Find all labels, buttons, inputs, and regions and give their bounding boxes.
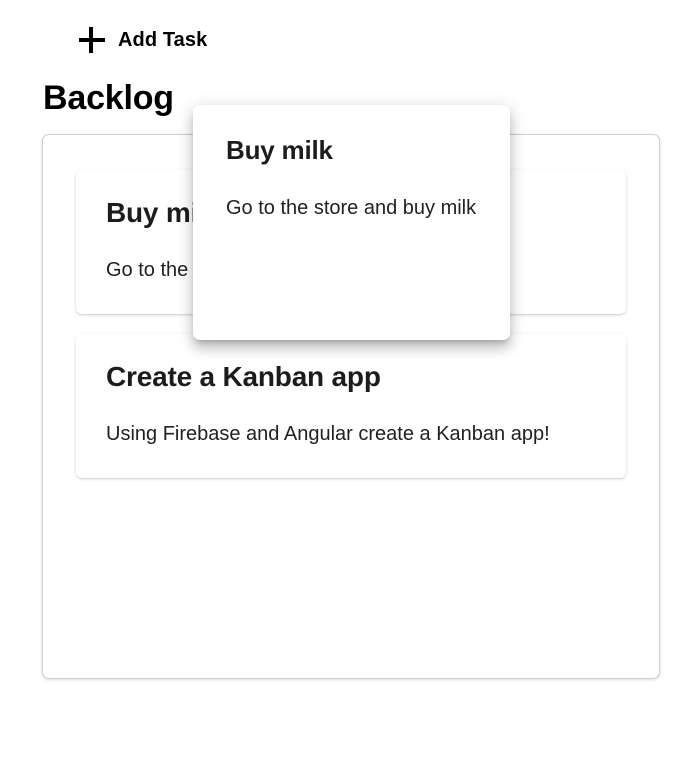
task-card-title: Create a Kanban app: [106, 360, 596, 394]
add-task-label: Add Task: [118, 30, 207, 50]
drag-preview-description: Go to the store and buy milk: [226, 194, 477, 222]
drag-preview-card[interactable]: Buy milk Go to the store and buy milk: [193, 105, 510, 340]
drag-preview-title: Buy milk: [226, 135, 477, 166]
task-card[interactable]: Create a Kanban app Using Firebase and A…: [76, 334, 626, 478]
task-card-description: Using Firebase and Angular create a Kanb…: [106, 420, 596, 448]
plus-icon: [78, 26, 106, 54]
add-task-button[interactable]: Add Task: [78, 19, 207, 61]
